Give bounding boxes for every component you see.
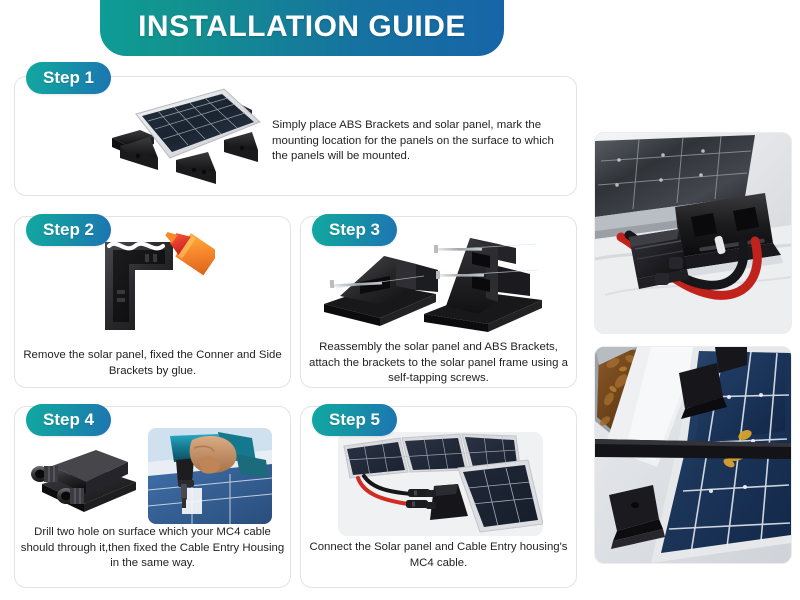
- photo-mounted-bracket-cable-entry: [594, 132, 792, 334]
- step-description-3: Reassembly the solar panel and ABS Brack…: [305, 340, 572, 387]
- step-badge-2: Step 2: [26, 214, 111, 246]
- abs-bracket-front-right: [224, 132, 258, 162]
- page-title: INSTALLATION GUIDE: [138, 10, 466, 44]
- step-badge-1: Step 1: [26, 62, 111, 94]
- photo-roof-mounted-panels: [594, 346, 792, 564]
- abs-brackets-with-screws-illustration: [320, 230, 560, 340]
- step-description-2: Remove the solar panel, fixed the Conner…: [20, 348, 285, 379]
- step-badge-5: Step 5: [312, 404, 397, 436]
- header-banner: INSTALLATION GUIDE: [100, 0, 504, 56]
- cable-gland-upper: [31, 466, 58, 482]
- abs-bracket-right: [424, 238, 542, 332]
- corner-bracket: [105, 242, 173, 330]
- abs-bracket-front-center: [176, 152, 216, 184]
- step-badge-3: Step 3: [312, 214, 397, 246]
- step-description-1: Simply place ABS Brackets and solar pane…: [272, 118, 572, 165]
- solar-panel-on-abs-brackets-illustration: [84, 80, 269, 195]
- abs-bracket-left: [324, 256, 438, 326]
- mc4-connector-lower: [406, 500, 428, 508]
- step-description-5: Connect the Solar panel and Cable Entry …: [305, 540, 572, 571]
- panels-with-mc4-cable-entry-illustration: [338, 432, 543, 536]
- corner-bracket-with-glue-illustration: [95, 226, 215, 346]
- cable-entry-housing-box: [629, 229, 689, 289]
- drilling-photo-illustration: [148, 428, 272, 524]
- cable-gland-lower: [57, 488, 84, 504]
- cable-entry-housing-illustration: [24, 432, 142, 522]
- step-description-4: Drill two hole on surface which your MC4…: [20, 525, 285, 572]
- step-badge-4: Step 4: [26, 404, 111, 436]
